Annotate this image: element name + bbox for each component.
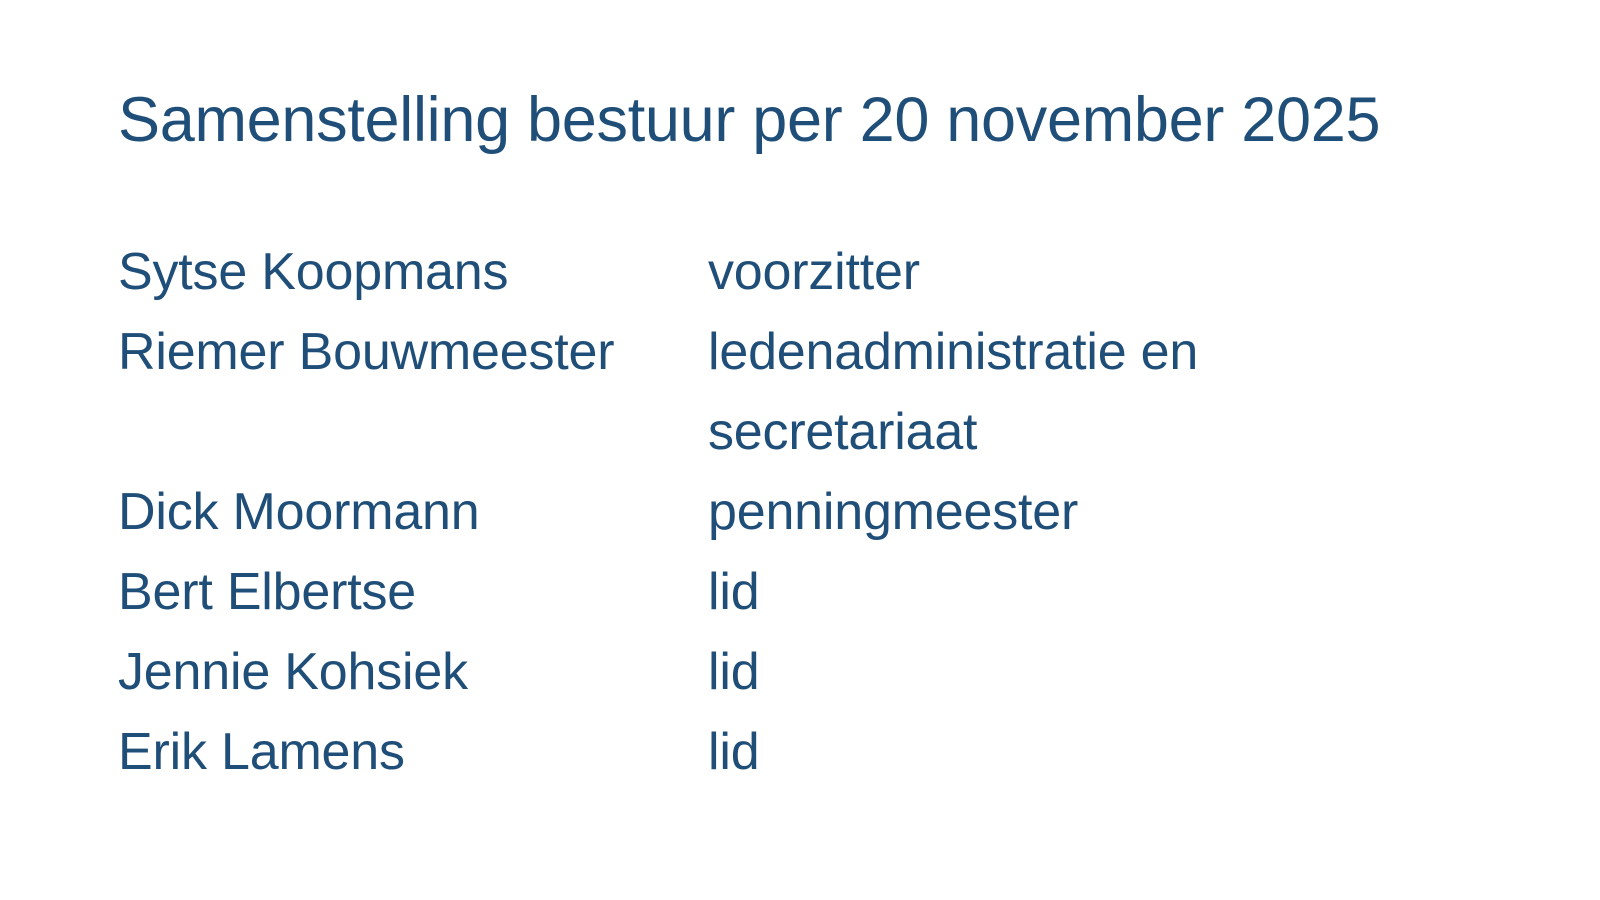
board-member-role-cell: penningmeester bbox=[708, 472, 1458, 552]
board-member-role-cell: voorzitter bbox=[708, 232, 1458, 312]
board-composition-table: Sytse Koopmans voorzitter Riemer Bouwmee… bbox=[118, 232, 1458, 792]
table-row: Jennie Kohsiek lid bbox=[118, 632, 1458, 712]
board-member-name: Erik Lamens bbox=[118, 712, 708, 792]
table-row: Erik Lamens lid bbox=[118, 712, 1458, 792]
slide-canvas: Samenstelling bestuur per 20 november 20… bbox=[0, 0, 1600, 900]
board-member-role: lid bbox=[708, 632, 1458, 712]
board-member-name: Bert Elbertse bbox=[118, 552, 708, 632]
board-member-role-cell: lid bbox=[708, 552, 1458, 632]
board-member-role-cell: ledenadministratie en secretariaat bbox=[708, 312, 1458, 472]
board-member-name: Dick Moormann bbox=[118, 472, 708, 552]
board-member-role: lid bbox=[708, 552, 1458, 632]
board-member-name: Riemer Bouwmeester bbox=[118, 312, 708, 472]
board-member-role-continuation: secretariaat bbox=[708, 392, 1458, 472]
table-row: Bert Elbertse lid bbox=[118, 552, 1458, 632]
table-row: Riemer Bouwmeester ledenadministratie en… bbox=[118, 312, 1458, 472]
board-member-role-cell: lid bbox=[708, 712, 1458, 792]
board-member-role: ledenadministratie en bbox=[708, 312, 1458, 392]
board-member-name: Jennie Kohsiek bbox=[118, 632, 708, 712]
board-member-role: penningmeester bbox=[708, 472, 1458, 552]
table-row: Dick Moormann penningmeester bbox=[118, 472, 1458, 552]
board-member-role: voorzitter bbox=[708, 232, 1458, 312]
board-member-role: lid bbox=[708, 712, 1458, 792]
board-member-name: Sytse Koopmans bbox=[118, 232, 708, 312]
page-title: Samenstelling bestuur per 20 november 20… bbox=[118, 86, 1498, 154]
table-row: Sytse Koopmans voorzitter bbox=[118, 232, 1458, 312]
board-member-role-cell: lid bbox=[708, 632, 1458, 712]
